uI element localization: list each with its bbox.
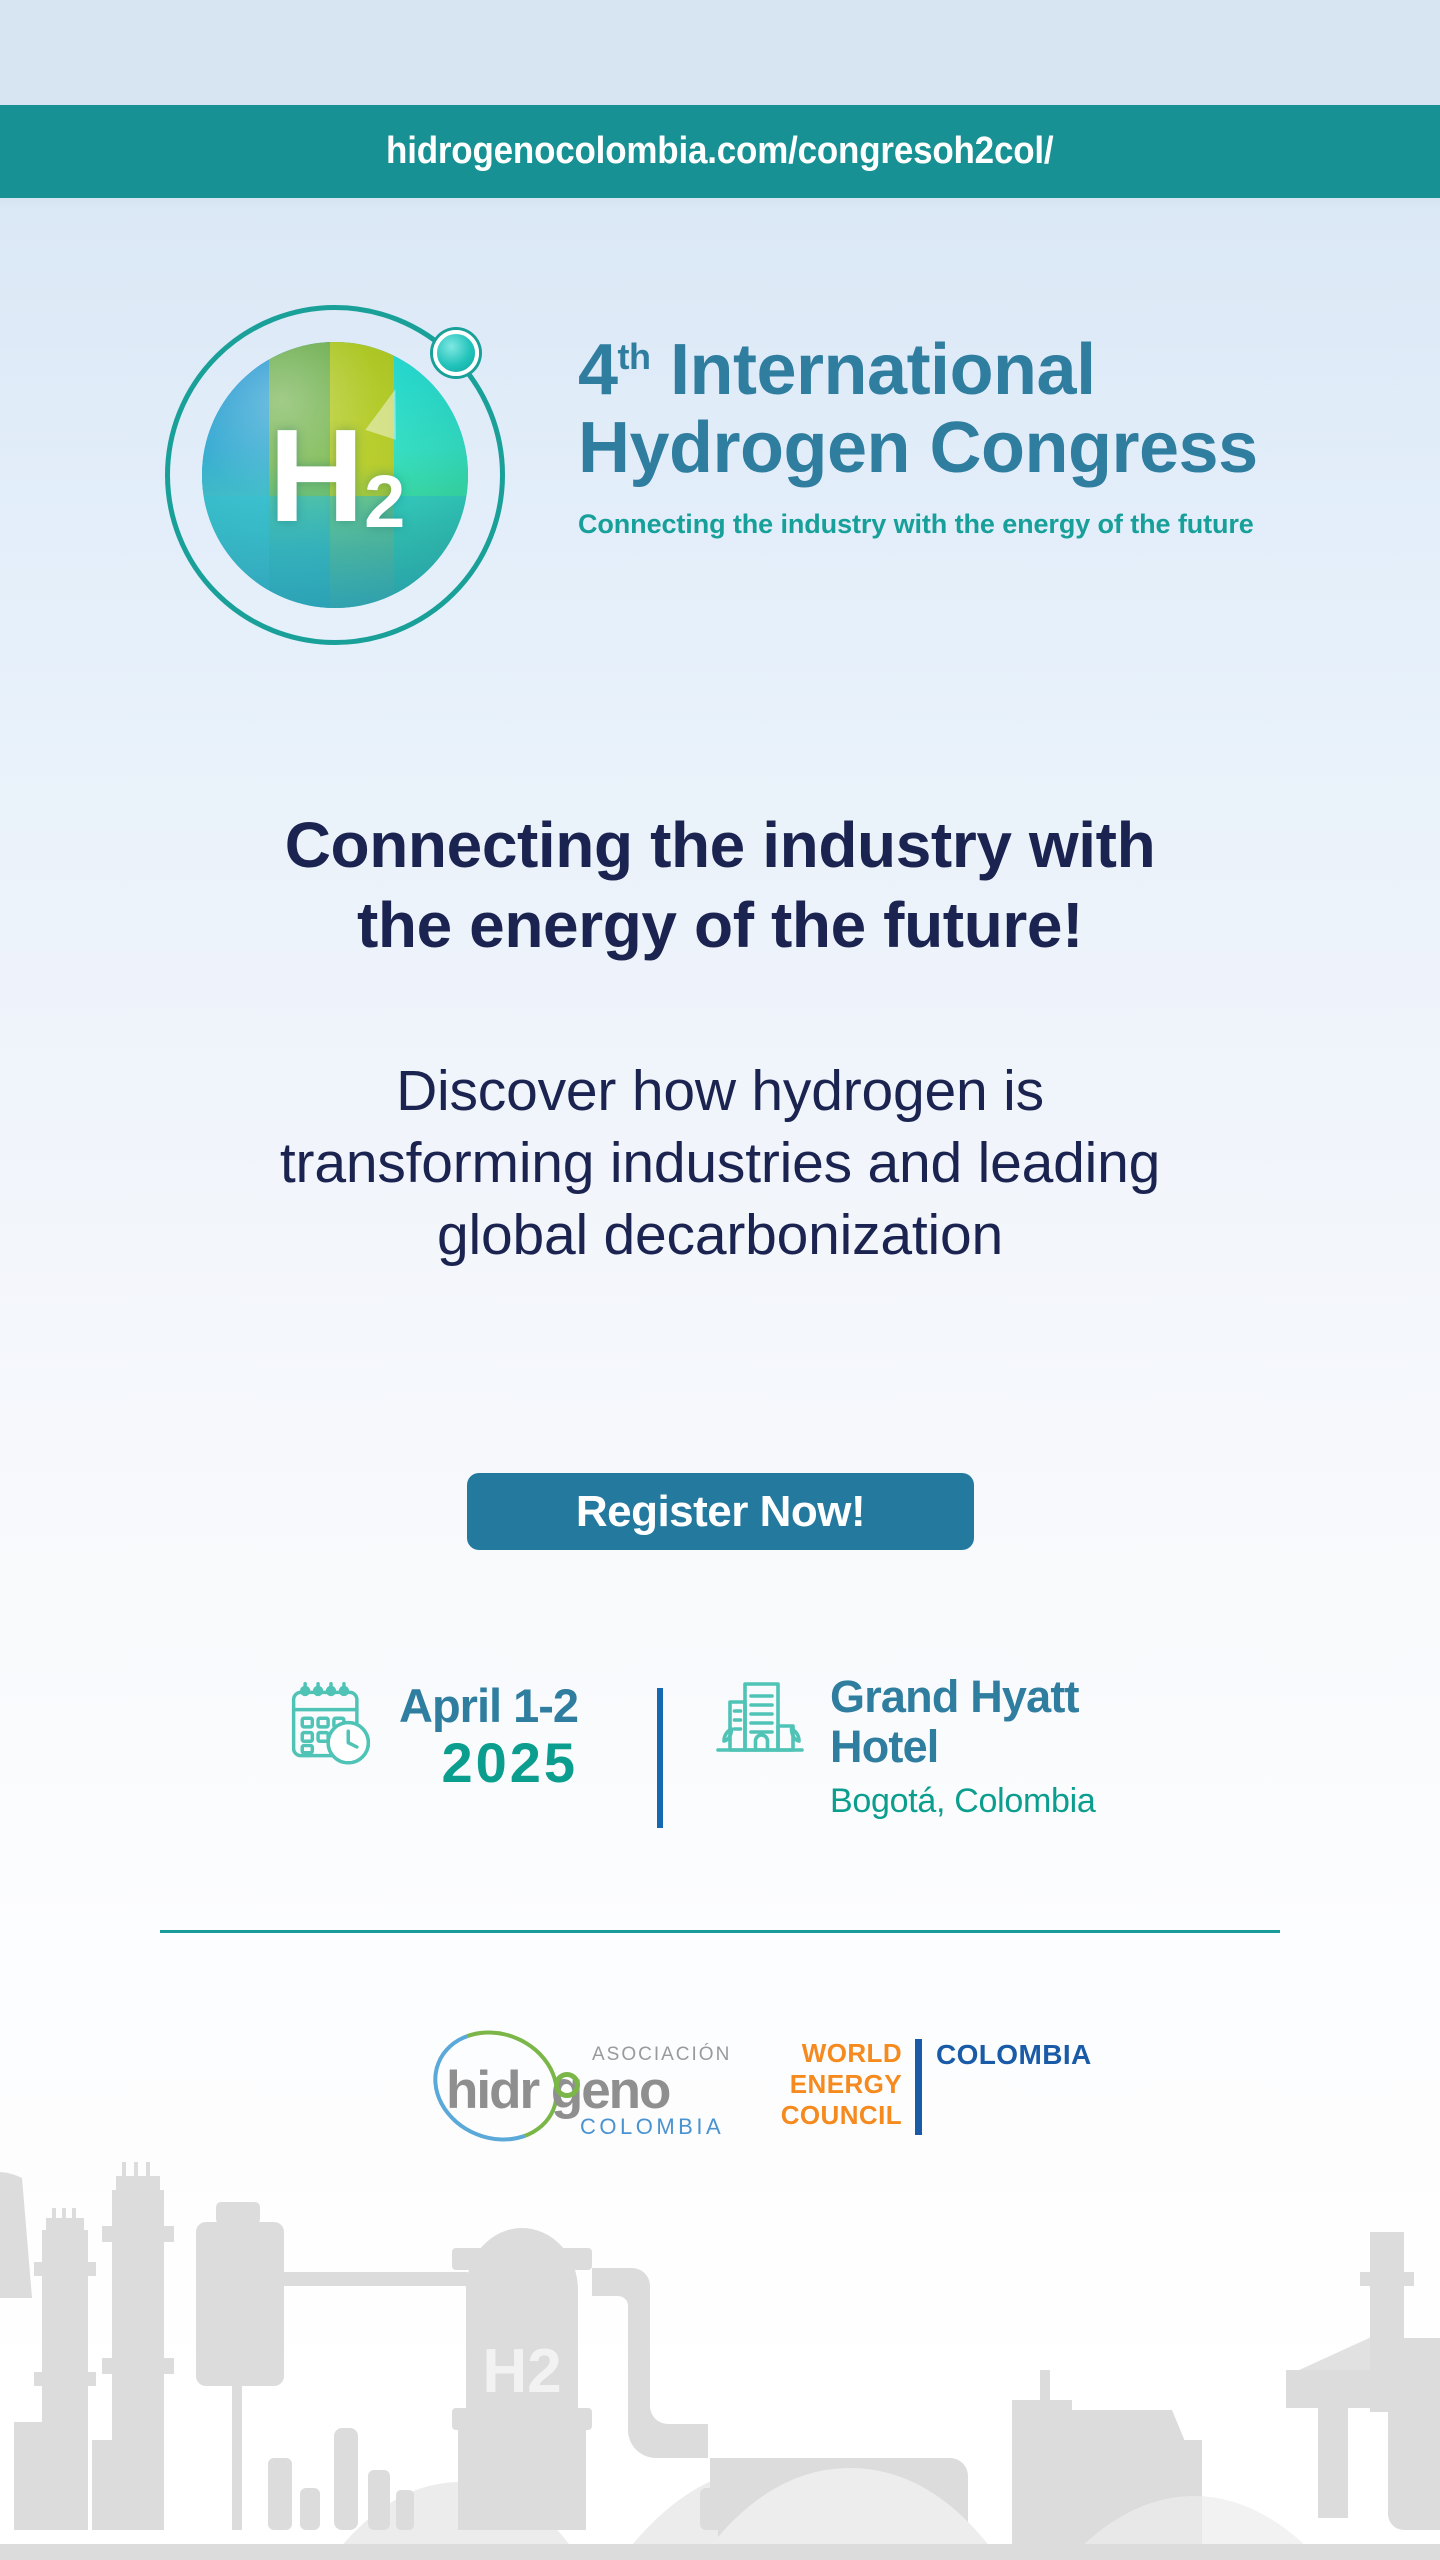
event-date-year: 2025 [399,1735,578,1791]
wec-divider [915,2039,922,2135]
ordinal-suffix: th [618,336,651,377]
event-venue-block: Grand Hyatt Hotel Bogotá, Colombia [712,1672,1095,1818]
hero-headline-line1: Connecting the industry with [0,805,1440,885]
url-bar[interactable]: hidrogenocolombia.com/congresoh2col/ [0,105,1440,198]
wec-country: COLOMBIA [936,2039,1092,2071]
congress-title-line1: 4th International [578,318,1258,409]
wec-wordmark: WORLD ENERGY COUNCIL [742,2038,902,2131]
event-venue-text: Grand Hyatt Hotel Bogotá, Colombia [830,1672,1095,1818]
hidrogeno-o-icon [554,2072,580,2098]
section-divider-rule [160,1930,1280,1933]
building-icon [712,1672,808,1773]
logo-h2-text: H2 [202,342,468,608]
congress-tagline: Connecting the industry with the energy … [578,509,1258,540]
title-line1-rest: International [651,330,1096,410]
hero-subhead-line1: Discover how hydrogen is [0,1055,1440,1127]
wec-line3: COUNCIL [742,2100,902,2131]
h2-globe-logo: H2 [155,290,515,660]
venue-name-line2: Hotel [830,1722,1095,1772]
event-date-main: April 1-2 [399,1682,578,1729]
logo-2-subscript: 2 [364,459,403,544]
brand-header: H2 4th International Hydrogen Congress C… [0,290,1440,680]
congress-title: 4th International Hydrogen Congress Conn… [578,318,1258,540]
url-text: hidrogenocolombia.com/congresoh2col/ [386,130,1053,173]
calendar-clock-icon [285,1678,377,1775]
event-date-text: April 1-2 2025 [399,1678,578,1791]
hidrogeno-colombia-logo: hidr geno ASOCIACIÓN COLOMBIA [432,2030,712,2142]
hero-headline: Connecting the industry with the energy … [0,805,1440,965]
register-now-button[interactable]: Register Now! [467,1473,974,1550]
wec-line2: ENERGY [742,2069,902,2100]
ordinal-number: 4 [578,330,618,410]
logo-h-letter: H [269,400,362,551]
poster-page: hidrogenocolombia.com/congresoh2col/ H2 … [0,0,1440,2560]
hero-headline-line2: the energy of the future! [0,885,1440,965]
congress-title-line2: Hydrogen Congress [578,409,1258,487]
event-date-block: April 1-2 2025 [285,1678,578,1791]
logo-orbit-dot [433,330,479,376]
venue-city: Bogotá, Colombia [830,1784,1095,1818]
event-info-strip: April 1-2 2025 [0,1670,1440,1840]
hidrogeno-kicker: ASOCIACIÓN [592,2044,731,2066]
logo-globe: H2 [202,342,468,608]
tank-h2-label: H2 [482,2337,561,2406]
hero-subhead: Discover how hydrogen is transforming in… [0,1055,1440,1271]
hidrogeno-country: COLOMBIA [580,2114,724,2140]
wec-line1: WORLD [742,2038,902,2069]
sponsor-logos: hidr geno ASOCIACIÓN COLOMBIA WORLD ENER… [0,2020,1440,2150]
world-energy-council-logo: WORLD ENERGY COUNCIL COLOMBIA [742,2038,1022,2138]
venue-name-line1: Grand Hyatt [830,1672,1095,1722]
hero-subhead-line2: transforming industries and leading [0,1127,1440,1199]
info-divider [657,1688,663,1828]
industrial-skyline-illustration: H2 [0,2140,1440,2560]
hero-subhead-line3: global decarbonization [0,1199,1440,1271]
